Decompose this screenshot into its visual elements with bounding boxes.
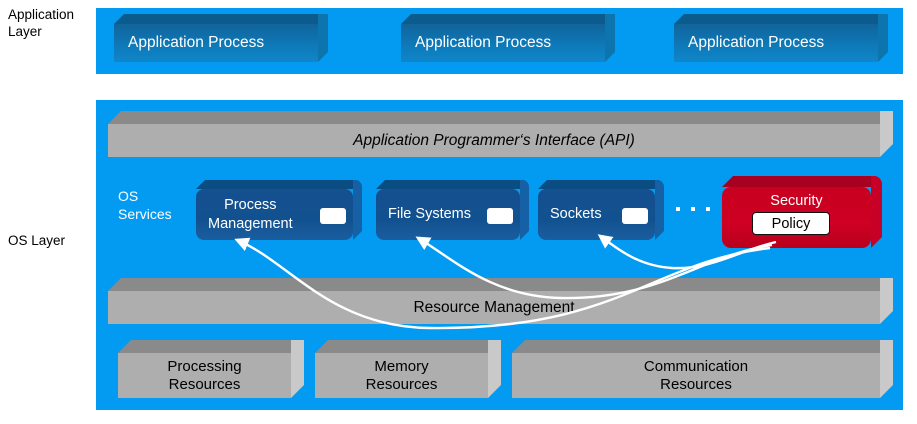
box-side-face [488, 340, 501, 398]
application-layer-label: Application Layer [8, 6, 92, 40]
api-bar-label: Application Programmer‘s Interface (API) [108, 124, 880, 157]
box-side-face [318, 14, 328, 62]
policy-box[interactable]: Policy [752, 212, 830, 235]
resource-box-communication[interactable]: Communication Resources [512, 340, 893, 398]
policy-hook-indicator-icon[interactable] [622, 208, 648, 224]
service-box-file-systems[interactable]: File Systems [376, 180, 529, 240]
box-top-face [118, 340, 304, 353]
box-top-face [114, 14, 328, 24]
bar-side-face [880, 278, 893, 324]
application-process-box[interactable]: Application Process [401, 14, 615, 62]
box-top-face [401, 14, 615, 24]
box-top-face [722, 176, 882, 187]
service-box-sockets[interactable]: Sockets [538, 180, 664, 240]
resource-management-bar[interactable]: Resource Management [108, 278, 893, 324]
os-layer-panel: Application Programmer‘s Interface (API)… [96, 100, 903, 410]
resource-management-label: Resource Management [108, 291, 880, 324]
ellipsis-dot-icon [691, 207, 695, 211]
policy-hook-indicator-icon[interactable] [320, 208, 346, 224]
box-top-face [196, 180, 362, 189]
application-layer-panel: Application Process Application Process … [96, 8, 903, 74]
box-top-face [315, 340, 501, 353]
service-box-process-management[interactable]: Process Management [196, 180, 362, 240]
box-top-face [376, 180, 529, 189]
resource-label: Memory Resources [315, 353, 488, 398]
resource-box-memory[interactable]: Memory Resources [315, 340, 501, 398]
box-side-face [520, 180, 529, 240]
resource-label: Processing Resources [118, 353, 291, 398]
bar-top-face [108, 278, 893, 291]
resource-label: Communication Resources [512, 353, 880, 398]
box-side-face [655, 180, 664, 240]
box-side-face [605, 14, 615, 62]
os-services-caption: OS Services [118, 187, 172, 223]
box-side-face [353, 180, 362, 240]
diagram-canvas: Application Layer OS Layer Application P… [0, 0, 917, 424]
api-bar[interactable]: Application Programmer‘s Interface (API) [108, 111, 893, 157]
application-process-label: Application Process [401, 24, 605, 62]
box-top-face [512, 340, 893, 353]
resource-box-processing[interactable]: Processing Resources [118, 340, 304, 398]
os-layer-label: OS Layer [8, 232, 92, 249]
more-services-ellipsis-icon [676, 207, 710, 211]
application-process-label: Application Process [674, 24, 878, 62]
box-side-face [878, 14, 888, 62]
application-process-box[interactable]: Application Process [114, 14, 328, 62]
bar-top-face [108, 111, 893, 124]
ellipsis-dot-icon [706, 207, 710, 211]
box-top-face [538, 180, 664, 189]
application-process-label: Application Process [114, 24, 318, 62]
box-side-face [871, 176, 882, 248]
security-server-box[interactable]: Security Server Policy [722, 176, 882, 248]
box-top-face [674, 14, 888, 24]
bar-side-face [880, 111, 893, 157]
policy-hook-indicator-icon[interactable] [487, 208, 513, 224]
application-process-box[interactable]: Application Process [674, 14, 888, 62]
ellipsis-dot-icon [676, 207, 680, 211]
box-side-face [291, 340, 304, 398]
box-side-face [880, 340, 893, 398]
